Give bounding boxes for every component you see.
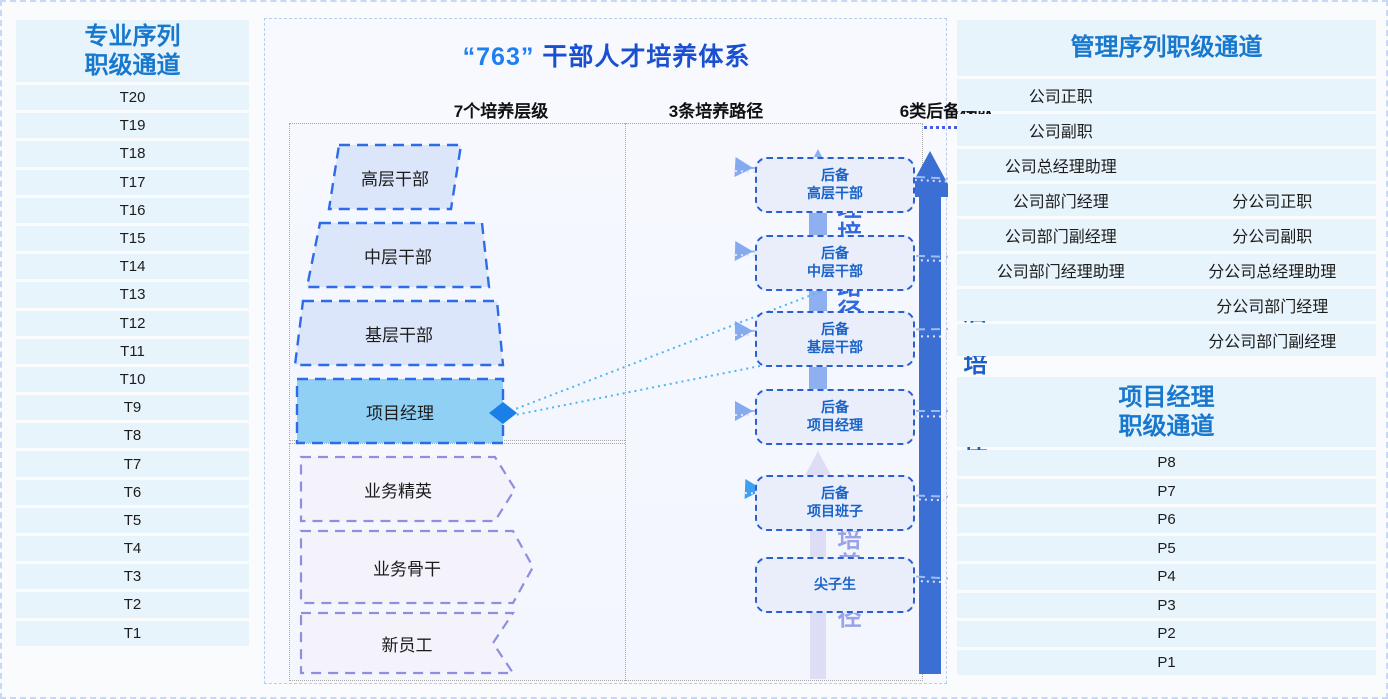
reserve-box-project-manager-line1: 后备 bbox=[821, 399, 849, 417]
management-cell bbox=[957, 324, 1165, 356]
professional-level-row[interactable]: T14 bbox=[16, 254, 249, 279]
pyramid-box-backbone[interactable]: 业务骨干 bbox=[301, 531, 513, 603]
professional-level-value: T7 bbox=[16, 451, 249, 476]
reserve-box-senior-line2: 高层干部 bbox=[807, 185, 863, 203]
professional-level-row[interactable]: T8 bbox=[16, 423, 249, 448]
professional-level-value: T11 bbox=[16, 339, 249, 364]
professional-level-value: T2 bbox=[16, 592, 249, 617]
pyramid-box-grassroots-label: 基层干部 bbox=[365, 321, 433, 346]
management-cell: 公司部门经理助理 bbox=[957, 254, 1165, 286]
professional-level-row[interactable]: T11 bbox=[16, 339, 249, 364]
professional-level-row[interactable]: T7 bbox=[16, 451, 249, 476]
pyramid-box-middle[interactable]: 中层干部 bbox=[307, 223, 489, 287]
center-title-rest: 干部人才培养体系 bbox=[534, 43, 750, 71]
pm-level-row[interactable]: P2 bbox=[957, 621, 1376, 647]
pm-level-value: P1 bbox=[957, 650, 1376, 676]
professional-level-value: T10 bbox=[16, 367, 249, 392]
professional-level-value: T1 bbox=[16, 621, 249, 646]
management-row[interactable]: 公司副职 bbox=[957, 114, 1376, 146]
pyramid-box-elite-label: 业务精英 bbox=[364, 477, 432, 502]
professional-level-row[interactable]: T12 bbox=[16, 311, 249, 336]
professional-level-value: T18 bbox=[16, 141, 249, 166]
professional-level-value: T8 bbox=[16, 423, 249, 448]
pm-channel-card: 项目经理 职级通道 P8P7P6P5P4P3P2P1 bbox=[957, 377, 1376, 682]
professional-level-value: T3 bbox=[16, 564, 249, 589]
pm-level-value: P7 bbox=[957, 479, 1376, 505]
pyramid-box-project-manager-label: 项目经理 bbox=[366, 399, 434, 424]
reserve-box-senior[interactable]: 后备 高层干部 bbox=[755, 157, 915, 213]
reserve-box-top-student[interactable]: 尖子生 bbox=[755, 557, 915, 613]
professional-level-row[interactable]: T18 bbox=[16, 141, 249, 166]
management-cell: 分公司副职 bbox=[1169, 219, 1377, 251]
professional-level-value: T16 bbox=[16, 198, 249, 223]
center-title-number: “763” bbox=[463, 43, 535, 71]
pyramid-box-newcomer[interactable]: 新员工 bbox=[301, 613, 513, 673]
management-cell: 公司总经理助理 bbox=[957, 149, 1165, 181]
management-cell: 公司部门经理 bbox=[957, 184, 1165, 216]
professional-channel-title: 专业序列 职级通道 bbox=[16, 20, 249, 82]
professional-level-value: T4 bbox=[16, 536, 249, 561]
reserve-box-senior-line1: 后备 bbox=[821, 167, 849, 185]
professional-level-value: T13 bbox=[16, 282, 249, 307]
reserve-box-project-team[interactable]: 后备 项目班子 bbox=[755, 475, 915, 531]
professional-level-value: T6 bbox=[16, 480, 249, 505]
management-row[interactable]: 分公司部门经理 bbox=[957, 289, 1376, 321]
professional-level-value: T9 bbox=[16, 395, 249, 420]
pyramid-box-middle-label: 中层干部 bbox=[364, 243, 432, 268]
reserve-box-middle-line2: 中层干部 bbox=[807, 263, 863, 281]
professional-level-row[interactable]: T19 bbox=[16, 113, 249, 138]
professional-level-row[interactable]: T9 bbox=[16, 395, 249, 420]
reserve-box-grassroots-line2: 基层干部 bbox=[807, 339, 863, 357]
pm-level-value: P3 bbox=[957, 593, 1376, 619]
management-row[interactable]: 公司总经理助理 bbox=[957, 149, 1376, 181]
reserve-box-project-manager-line2: 项目经理 bbox=[807, 417, 863, 435]
management-cell: 公司正职 bbox=[957, 79, 1165, 111]
pm-level-value: P5 bbox=[957, 536, 1376, 562]
pm-level-row[interactable]: P7 bbox=[957, 479, 1376, 505]
management-cell bbox=[957, 289, 1165, 321]
professional-level-row[interactable]: T6 bbox=[16, 480, 249, 505]
diagram-canvas: 专业序列 职级通道 T20T19T18T17T16T15T14T13T12T11… bbox=[0, 0, 1388, 699]
pm-level-row[interactable]: P4 bbox=[957, 564, 1376, 590]
management-cell bbox=[1169, 79, 1377, 111]
pm-level-row[interactable]: P8 bbox=[957, 450, 1376, 476]
management-cell: 分公司部门副经理 bbox=[1169, 324, 1377, 356]
management-cell bbox=[1169, 149, 1377, 181]
management-cell: 分公司部门经理 bbox=[1169, 289, 1377, 321]
professional-level-row[interactable]: T16 bbox=[16, 198, 249, 223]
pyramid-box-newcomer-label: 新员工 bbox=[382, 631, 433, 656]
professional-level-value: T15 bbox=[16, 226, 249, 251]
professional-level-row[interactable]: T2 bbox=[16, 592, 249, 617]
management-row[interactable]: 公司部门经理分公司正职 bbox=[957, 184, 1376, 216]
professional-level-row[interactable]: T15 bbox=[16, 226, 249, 251]
professional-level-row[interactable]: T4 bbox=[16, 536, 249, 561]
management-cell: 分公司总经理助理 bbox=[1169, 254, 1377, 286]
pyramid-box-senior-label: 高层干部 bbox=[361, 165, 429, 190]
management-cell: 公司部门副经理 bbox=[957, 219, 1165, 251]
professional-level-row[interactable]: T10 bbox=[16, 367, 249, 392]
professional-level-row[interactable]: T1 bbox=[16, 621, 249, 646]
professional-level-value: T19 bbox=[16, 113, 249, 138]
professional-level-value: T20 bbox=[16, 85, 249, 110]
pm-level-value: P4 bbox=[957, 564, 1376, 590]
pm-level-row[interactable]: P1 bbox=[957, 650, 1376, 676]
management-row[interactable]: 公司部门副经理分公司副职 bbox=[957, 219, 1376, 251]
professional-level-value: T5 bbox=[16, 508, 249, 533]
pm-level-row[interactable]: P6 bbox=[957, 507, 1376, 533]
professional-level-row[interactable]: T20 bbox=[16, 85, 249, 110]
professional-level-row[interactable]: T5 bbox=[16, 508, 249, 533]
pyramid-box-grassroots[interactable]: 基层干部 bbox=[295, 301, 503, 365]
pm-level-value: P8 bbox=[957, 450, 1376, 476]
professional-level-row[interactable]: T17 bbox=[16, 170, 249, 195]
reserve-box-grassroots[interactable]: 后备 基层干部 bbox=[755, 311, 915, 367]
pm-channel-title-line1: 项目经理 bbox=[1119, 383, 1215, 412]
reserve-box-middle-line1: 后备 bbox=[821, 245, 849, 263]
management-channel-rows: 公司正职公司副职公司总经理助理公司部门经理分公司正职公司部门副经理分公司副职公司… bbox=[957, 79, 1376, 356]
professional-level-value: T14 bbox=[16, 254, 249, 279]
pm-level-row[interactable]: P3 bbox=[957, 593, 1376, 619]
professional-level-row[interactable]: T13 bbox=[16, 282, 249, 307]
pm-channel-title-line2: 职级通道 bbox=[1119, 412, 1215, 441]
center-panel: “763” 干部人才培养体系 7个培养层级 3条培养路径 6类后备梯队 bbox=[264, 18, 947, 684]
reserve-box-middle[interactable]: 后备 中层干部 bbox=[755, 235, 915, 291]
management-cell bbox=[1169, 114, 1377, 146]
management-channel-card: 管理序列职级通道 公司正职公司副职公司总经理助理公司部门经理分公司正职公司部门副… bbox=[957, 20, 1376, 370]
professional-level-value: T12 bbox=[16, 311, 249, 336]
professional-channel-card: 专业序列 职级通道 T20T19T18T17T16T15T14T13T12T11… bbox=[16, 20, 249, 684]
management-row[interactable]: 公司部门经理助理分公司总经理助理 bbox=[957, 254, 1376, 286]
management-cell: 公司副职 bbox=[957, 114, 1165, 146]
professional-channel-title-line2: 职级通道 bbox=[85, 51, 181, 80]
professional-channel-title-line1: 专业序列 bbox=[85, 22, 181, 51]
pyramid-box-backbone-label: 业务骨干 bbox=[373, 555, 441, 580]
reserve-box-project-team-line1: 后备 bbox=[821, 485, 849, 503]
management-row[interactable]: 分公司部门副经理 bbox=[957, 324, 1376, 356]
professional-channel-rows: T20T19T18T17T16T15T14T13T12T11T10T9T8T7T… bbox=[16, 85, 249, 646]
pm-level-value: P2 bbox=[957, 621, 1376, 647]
professional-level-value: T17 bbox=[16, 170, 249, 195]
pyramid-box-project-manager[interactable]: 项目经理 bbox=[297, 379, 503, 443]
pm-level-value: P6 bbox=[957, 507, 1376, 533]
management-row[interactable]: 公司正职 bbox=[957, 79, 1376, 111]
center-panel-title: “763” 干部人才培养体系 bbox=[265, 37, 948, 73]
professional-level-row[interactable]: T3 bbox=[16, 564, 249, 589]
pm-level-row[interactable]: P5 bbox=[957, 536, 1376, 562]
reserve-box-grassroots-line1: 后备 bbox=[821, 321, 849, 339]
pyramid-box-elite[interactable]: 业务精英 bbox=[301, 457, 495, 521]
reserve-box-top-student-line1: 尖子生 bbox=[814, 576, 856, 594]
pm-channel-title: 项目经理 职级通道 bbox=[957, 377, 1376, 447]
management-cell: 分公司正职 bbox=[1169, 184, 1377, 216]
reserve-box-project-team-line2: 项目班子 bbox=[807, 503, 863, 521]
pyramid-box-senior[interactable]: 高层干部 bbox=[329, 145, 461, 209]
management-channel-title: 管理序列职级通道 bbox=[957, 20, 1376, 76]
pm-channel-rows: P8P7P6P5P4P3P2P1 bbox=[957, 450, 1376, 675]
reserve-box-project-manager[interactable]: 后备 项目经理 bbox=[755, 389, 915, 445]
